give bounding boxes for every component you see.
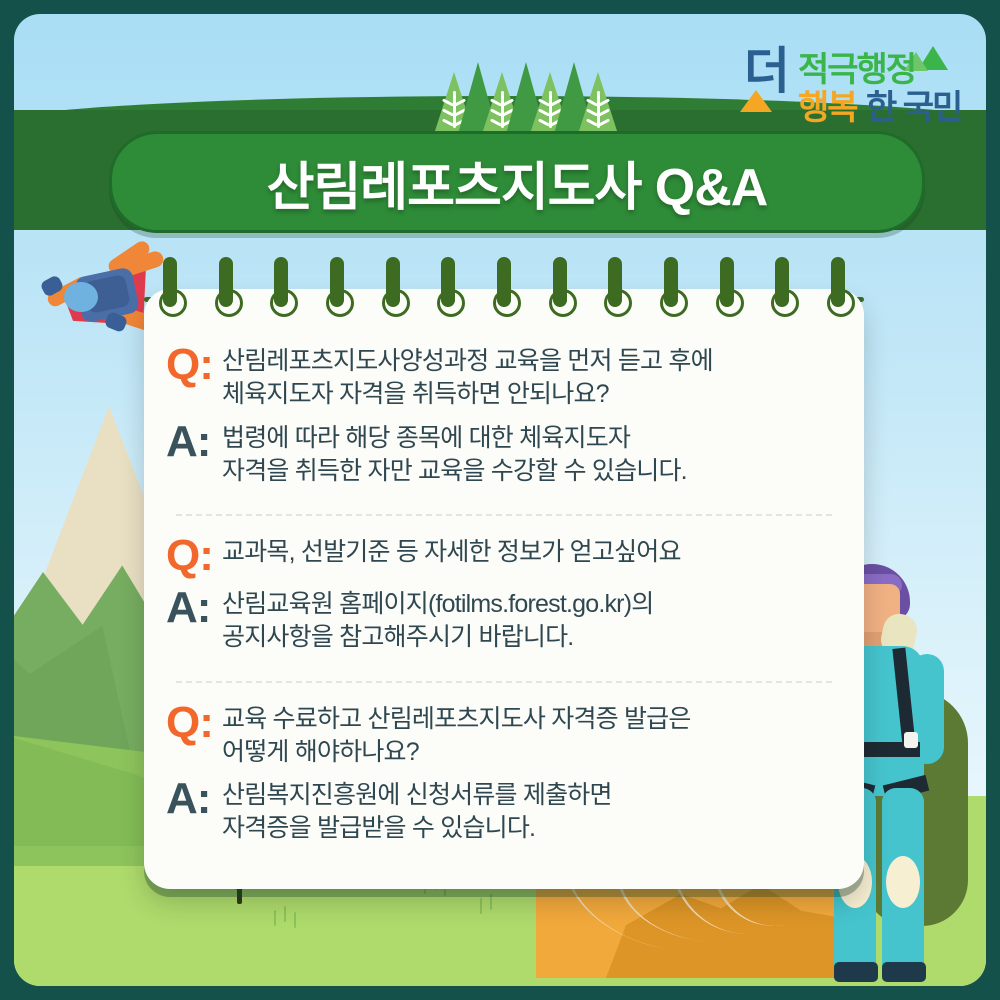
bush-trunk	[237, 888, 242, 904]
text-lines: 산림교육원 홈페이지(fotilms.forest.go.kr)의공지사항을 참…	[222, 584, 842, 655]
spiral-ring	[382, 257, 404, 327]
spiral-ring	[493, 257, 515, 327]
conifer-tree-row-icon	[434, 54, 614, 134]
spiral-ring	[215, 257, 237, 327]
question-mark: Q:	[166, 699, 222, 745]
spiral-ring-loop	[493, 289, 521, 317]
text-lines: 산림복지진흥원에 신청서류를 제출하면자격증을 발급받을 수 있습니다.	[222, 775, 842, 846]
spiral-ring	[827, 257, 849, 327]
spiral-ring-loop	[660, 289, 688, 317]
logo-line2-accent-text: 행복	[798, 80, 857, 129]
qa-list: Q:산림레포츠지도사양성과정 교육을 먼저 듣고 후에체육지도자 자격을 취득하…	[144, 337, 864, 860]
poster-root: 더 적극행정 행복 한 국민 산림레포츠지도사 Q&A Q:산림레포츠지도사양성…	[0, 0, 1000, 1000]
answer-text: 자격증을 발급받을 수 있습니다.	[222, 812, 842, 845]
spiral-ring-loop	[159, 289, 187, 317]
spiral-ring-loop	[270, 289, 298, 317]
page-title: 산림레포츠지도사 Q&A	[267, 145, 768, 220]
answer-mark: A:	[166, 775, 222, 821]
answer-text: 자격을 취득한 자만 교육을 수강할 수 있습니다.	[222, 455, 842, 488]
answer-row: A:법령에 따라 해당 종목에 대한 체육지도자자격을 취득한 자만 교육을 수…	[166, 418, 842, 489]
qa-block: Q:산림레포츠지도사양성과정 교육을 먼저 듣고 후에체육지도자 자격을 취득하…	[166, 337, 842, 502]
pilot-boot-left	[834, 962, 878, 982]
answer-text: 산림복지진흥원에 신청서류를 제출하면	[222, 779, 842, 812]
text-lines: 법령에 따라 해당 종목에 대한 체육지도자자격을 취득한 자만 교육을 수강할…	[222, 418, 842, 489]
spiral-ring	[437, 257, 459, 327]
spiral-ring-loop	[382, 289, 410, 317]
spiral-ring	[326, 257, 348, 327]
text-lines: 산림레포츠지도사양성과정 교육을 먼저 듣고 후에체육지도자 자격을 취득하면 …	[222, 341, 842, 412]
question-text: 어떻게 해야하나요?	[222, 736, 842, 769]
grass-tuft	[274, 910, 276, 926]
question-mark: Q:	[166, 341, 222, 387]
logo-line2-rest-text: 한 국민	[866, 80, 961, 129]
spiral-ring	[771, 257, 793, 327]
question-text: 산림레포츠지도사양성과정 교육을 먼저 듣고 후에	[222, 345, 842, 378]
scene-background: 더 적극행정 행복 한 국민 산림레포츠지도사 Q&A Q:산림레포츠지도사양성…	[14, 14, 986, 986]
answer-mark: A:	[166, 418, 222, 464]
answer-row: A:산림복지진흥원에 신청서류를 제출하면자격증을 발급받을 수 있습니다.	[166, 775, 842, 846]
question-text: 교과목, 선발기준 등 자세한 정보가 얻고싶어요	[222, 536, 842, 569]
grass-tuft	[480, 898, 482, 914]
harness-buckle-right	[904, 732, 918, 748]
question-row: Q:교육 수료하고 산림레포츠지도사 자격증 발급은어떻게 해야하나요?	[166, 699, 842, 770]
qa-divider	[176, 681, 832, 683]
qa-card: Q:산림레포츠지도사양성과정 교육을 먼저 듣고 후에체육지도자 자격을 취득하…	[144, 289, 864, 889]
question-row: Q:산림레포츠지도사양성과정 교육을 먼저 듣고 후에체육지도자 자격을 취득하…	[166, 341, 842, 412]
pilot-boot-right	[882, 962, 926, 982]
answer-row: A:산림교육원 홈페이지(fotilms.forest.go.kr)의공지사항을…	[166, 584, 842, 655]
grass-tuft	[294, 912, 296, 928]
spiral-rings	[144, 257, 864, 327]
spiral-ring-loop	[771, 289, 799, 317]
text-lines: 교육 수료하고 산림레포츠지도사 자격증 발급은어떻게 해야하나요?	[222, 699, 842, 770]
answer-text: 공지사항을 참고해주시기 바랍니다.	[222, 621, 842, 654]
spiral-ring-loop	[326, 289, 354, 317]
pilot-knee-pad-right	[886, 856, 920, 908]
grass-tuft	[490, 894, 492, 910]
qa-divider	[176, 514, 832, 516]
flyer-helmet	[64, 282, 98, 312]
answer-text: 산림교육원 홈페이지(fotilms.forest.go.kr)의	[222, 588, 842, 621]
question-text: 교육 수료하고 산림레포츠지도사 자격증 발급은	[222, 703, 842, 736]
spiral-ring	[159, 257, 181, 327]
spiral-ring	[716, 257, 738, 327]
qa-block: Q:교과목, 선발기준 등 자세한 정보가 얻고싶어요A:산림교육원 홈페이지(…	[166, 528, 842, 669]
question-mark: Q:	[166, 532, 222, 578]
spiral-ring-loop	[437, 289, 465, 317]
spiral-ring-loop	[716, 289, 744, 317]
grass-tuft	[284, 906, 286, 922]
answer-mark: A:	[166, 584, 222, 630]
qa-block: Q:교육 수료하고 산림레포츠지도사 자격증 발급은어떻게 해야하나요?A:산림…	[166, 695, 842, 860]
spiral-ring-loop	[549, 289, 577, 317]
spiral-ring	[270, 257, 292, 327]
spiral-ring	[549, 257, 571, 327]
logo-deo-text: 더	[744, 46, 788, 96]
spiral-ring	[660, 257, 682, 327]
spiral-ring-loop	[827, 289, 855, 317]
question-row: Q:교과목, 선발기준 등 자세한 정보가 얻고싶어요	[166, 532, 842, 578]
answer-text: 법령에 따라 해당 종목에 대한 체육지도자	[222, 422, 842, 455]
question-text: 체육지도자 자격을 취득하면 안되나요?	[222, 378, 842, 411]
government-campaign-logo: 더 적극행정 행복 한 국민	[736, 40, 952, 124]
spiral-ring-loop	[604, 289, 632, 317]
spiral-ring	[604, 257, 626, 327]
text-lines: 교과목, 선발기준 등 자세한 정보가 얻고싶어요	[222, 532, 842, 569]
title-banner: 산림레포츠지도사 Q&A	[109, 131, 925, 233]
spiral-ring-loop	[215, 289, 243, 317]
